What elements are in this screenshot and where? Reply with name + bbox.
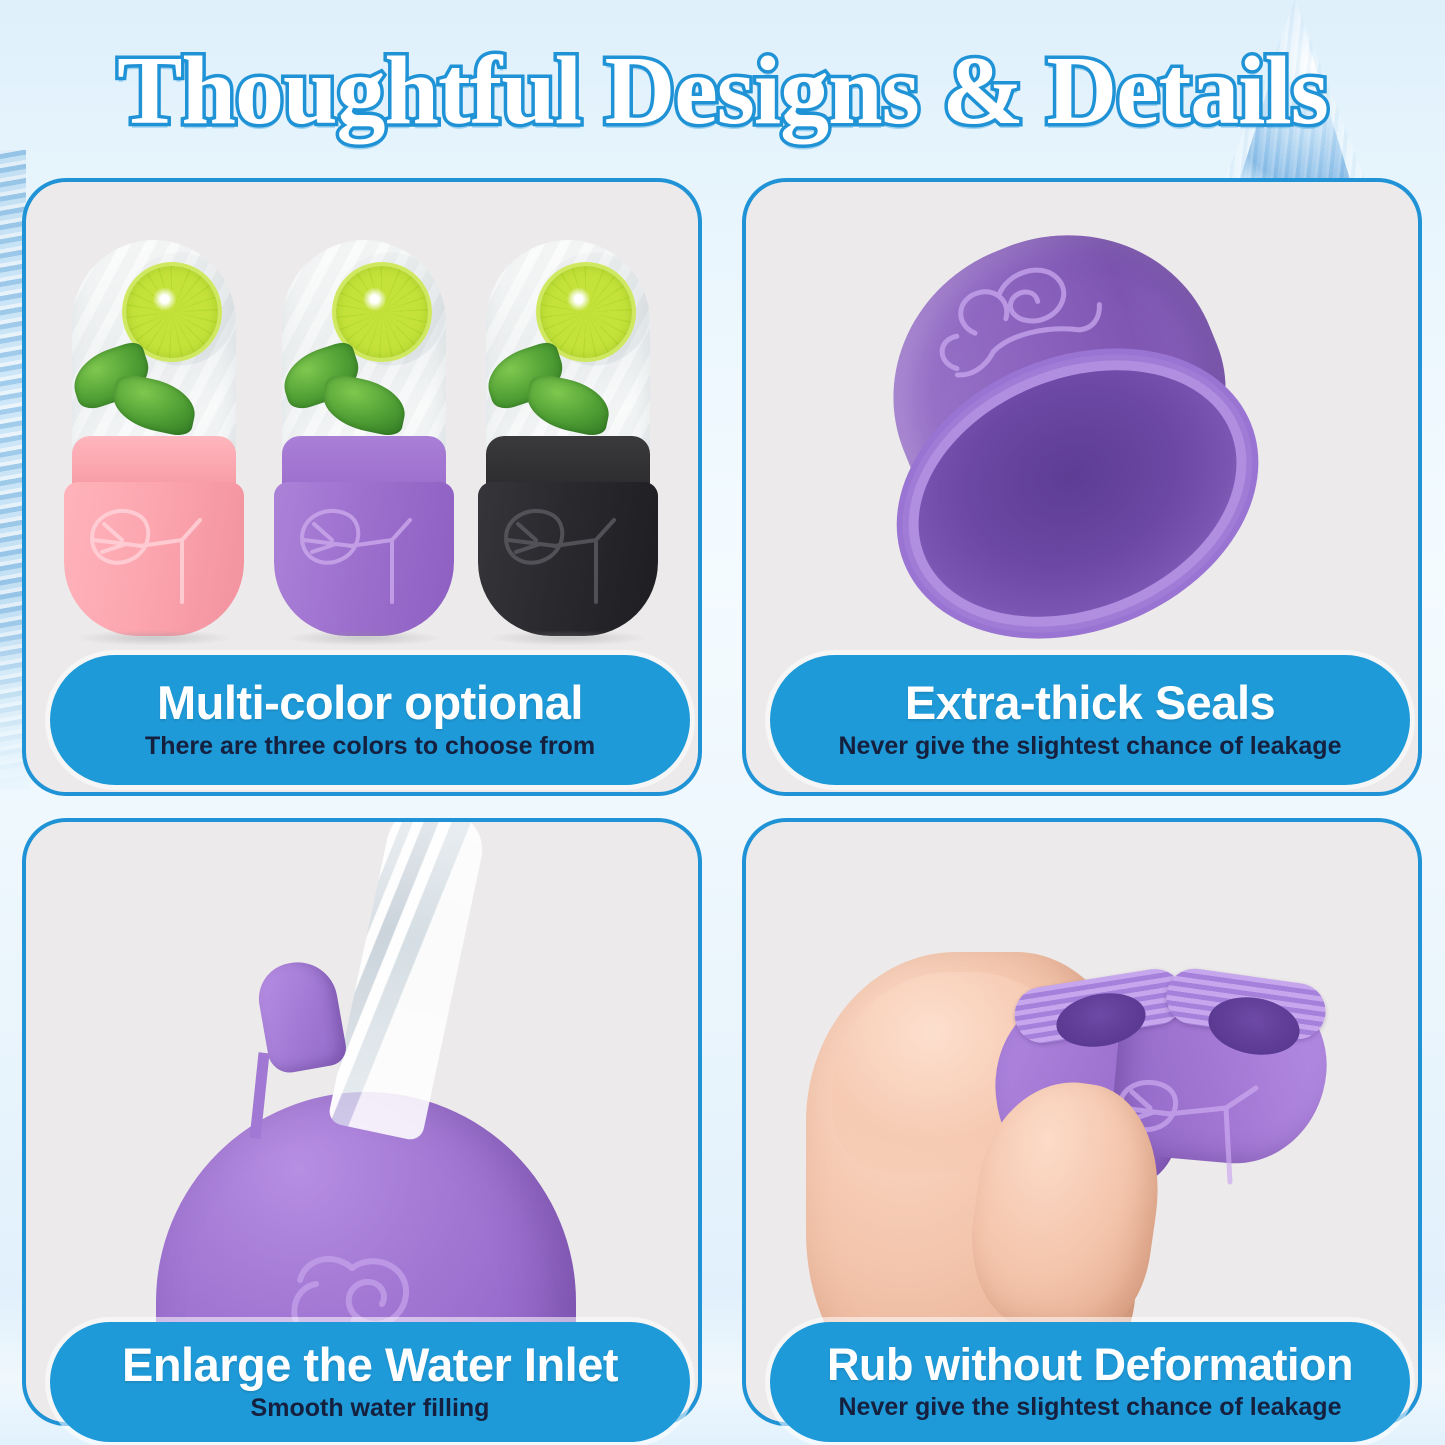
banner-subtitle: Never give the slightest chance of leaka… xyxy=(839,733,1342,761)
banner-subtitle: There are three colors to choose from xyxy=(145,733,595,761)
sleeve-lip xyxy=(486,436,650,488)
banner-title: Extra-thick Seals xyxy=(905,679,1275,727)
banner-subtitle: Smooth water filling xyxy=(251,1395,490,1423)
infographic-canvas: Thoughtful Designs & Details xyxy=(0,0,1445,1445)
leaf-emboss-icon xyxy=(292,490,432,620)
banner-multi-color: Multi-color optional There are three col… xyxy=(50,655,690,785)
product-ice-cup-black xyxy=(478,240,658,640)
banner-title: Enlarge the Water Inlet xyxy=(122,1341,618,1389)
sleeve-lip xyxy=(72,436,236,488)
page-title: Thoughtful Designs & Details xyxy=(0,36,1445,146)
product-ice-cup-pink xyxy=(64,240,244,640)
product-shadow xyxy=(284,630,444,646)
banner-rub-without-deformation: Rub without Deformation Never give the s… xyxy=(770,1322,1410,1442)
leaf-emboss-icon xyxy=(496,490,636,620)
sleeve-lip xyxy=(282,436,446,488)
banner-enlarge-water-inlet: Enlarge the Water Inlet Smooth water fil… xyxy=(50,1322,690,1442)
banner-title: Rub without Deformation xyxy=(827,1342,1353,1388)
banner-extra-thick-seals: Extra-thick Seals Never give the slighte… xyxy=(770,655,1410,785)
product-ice-cup-purple xyxy=(274,240,454,640)
water-stream xyxy=(327,818,490,1142)
product-silicone-cup-tilted xyxy=(807,178,1356,688)
banner-subtitle: Never give the slightest chance of leaka… xyxy=(839,1394,1342,1422)
banner-title: Multi-color optional xyxy=(157,679,583,727)
product-shadow xyxy=(488,630,648,646)
product-shadow xyxy=(74,630,234,646)
leaf-emboss-icon xyxy=(82,490,222,620)
